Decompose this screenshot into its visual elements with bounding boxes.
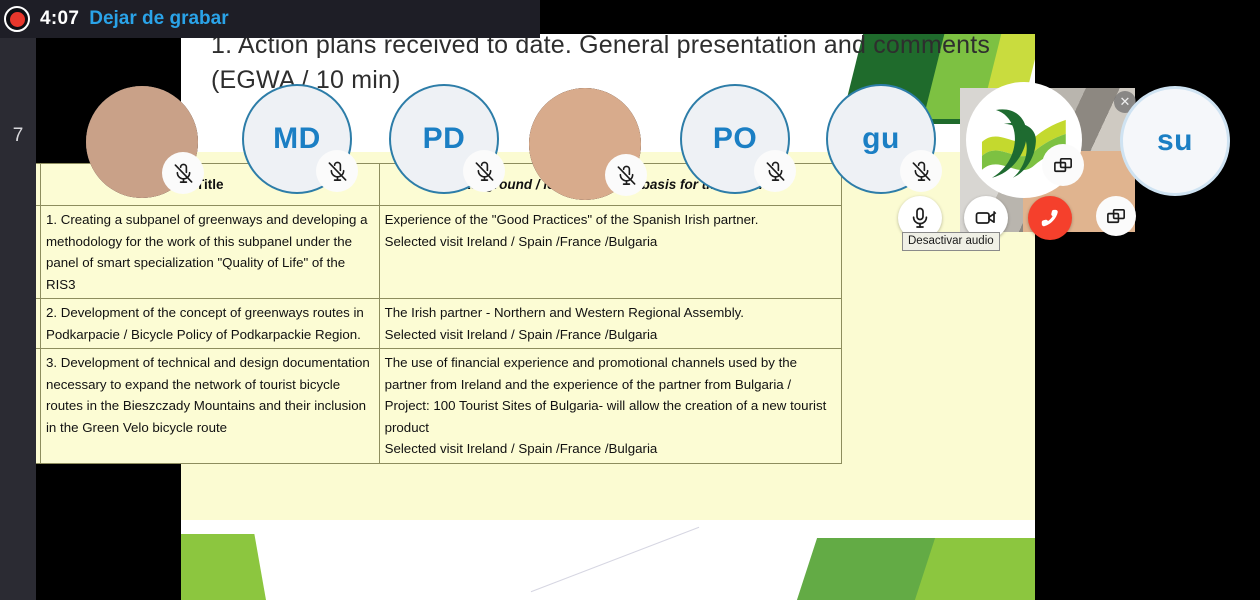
participant-avatar[interactable]: MD bbox=[242, 84, 352, 194]
record-dot-icon bbox=[4, 6, 30, 32]
row-background-cell: The use of financial experience and prom… bbox=[379, 349, 841, 464]
participant-avatar[interactable]: PO bbox=[680, 84, 790, 194]
row-title-cell: 1. Creating a subpanel of greenways and … bbox=[40, 206, 379, 299]
stop-recording-button[interactable]: Dejar de grabar bbox=[89, 8, 228, 30]
row-title-cell: 3. Development of technical and design d… bbox=[40, 349, 379, 464]
avatar: su bbox=[1120, 86, 1230, 196]
decor-green-bottom-right-2 bbox=[915, 538, 1035, 600]
participant-avatar[interactable] bbox=[529, 88, 641, 200]
participant-avatar[interactable] bbox=[966, 82, 1082, 198]
left-sidebar: 7 bbox=[0, 0, 36, 600]
participant-avatar[interactable]: PD bbox=[389, 84, 499, 194]
tooltip-desactivar-audio: Desactivar audio bbox=[902, 232, 1000, 251]
mic-off-icon[interactable] bbox=[463, 150, 505, 192]
avatar-initials: su bbox=[1157, 124, 1193, 158]
avatar-initials: PD bbox=[423, 122, 466, 156]
mic-off-icon[interactable] bbox=[316, 150, 358, 192]
camera-off-icon bbox=[974, 206, 998, 230]
table-body: P 3 1. Creating a subpanel of greenways … bbox=[15, 206, 842, 464]
participant-avatar[interactable]: su bbox=[1120, 86, 1230, 196]
mic-off-icon[interactable] bbox=[162, 152, 204, 194]
recording-time: 4:07 bbox=[40, 8, 79, 30]
participant-avatar[interactable] bbox=[86, 86, 198, 198]
row-title-cell: 2. Development of the concept of greenwa… bbox=[40, 299, 379, 349]
hangup-icon bbox=[1037, 205, 1063, 231]
avatar-initials: PO bbox=[713, 122, 757, 156]
participant-count: 7 bbox=[0, 125, 36, 147]
meeting-stage: 1. Action plans received to date. Genera… bbox=[0, 0, 1260, 600]
row-background-cell: Experience of the "Good Practices" of th… bbox=[379, 206, 841, 299]
table-row: P 3 3. Development of technical and desi… bbox=[15, 349, 842, 464]
mic-off-icon[interactable] bbox=[754, 150, 796, 192]
action-plans-table: # Title Background / lessons learnt/ bas… bbox=[14, 163, 842, 464]
participant-avatar[interactable]: gu bbox=[826, 84, 936, 194]
screen-share-icon[interactable] bbox=[1096, 196, 1136, 236]
microphone-icon bbox=[908, 206, 932, 230]
recording-bar: 4:07 Dejar de grabar bbox=[0, 0, 540, 38]
avatar-initials: gu bbox=[862, 122, 900, 156]
table-row: P 3 1. Creating a subpanel of greenways … bbox=[15, 206, 842, 299]
decor-green-bottom-left bbox=[181, 534, 266, 600]
mic-off-icon[interactable] bbox=[605, 154, 647, 196]
avatar-initials: MD bbox=[273, 122, 321, 156]
row-background-cell: The Irish partner - Northern and Western… bbox=[379, 299, 841, 349]
table-row: P 3 2. Development of the concept of gre… bbox=[15, 299, 842, 349]
mic-off-icon[interactable] bbox=[900, 150, 942, 192]
screen-share-icon[interactable] bbox=[1042, 144, 1084, 186]
hangup-button[interactable] bbox=[1028, 196, 1072, 240]
